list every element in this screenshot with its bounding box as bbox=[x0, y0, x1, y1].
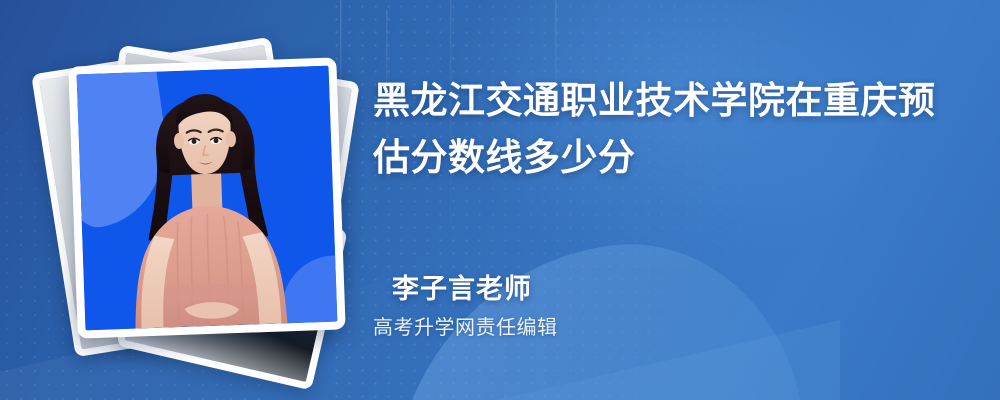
photo-card-front bbox=[68, 57, 345, 338]
portrait-illustration bbox=[77, 66, 338, 331]
banner-title: 黑龙江交通职业技术学院在重庆预 估分数线多少分 bbox=[373, 72, 963, 186]
banner-text-column: 黑龙江交通职业技术学院在重庆预 估分数线多少分 李子言老师 高考升学网责任编辑 bbox=[373, 0, 973, 400]
banner-title-line-1: 黑龙江交通职业技术学院在重庆预 bbox=[373, 72, 963, 129]
banner-title-line-2: 估分数线多少分 bbox=[373, 129, 963, 186]
author-name: 李子言老师 bbox=[392, 272, 793, 308]
author-block: 李子言老师 高考升学网责任编辑 bbox=[373, 272, 793, 342]
photo-card-stack bbox=[40, 28, 340, 368]
article-cover-banner: 黑龙江交通职业技术学院在重庆预 估分数线多少分 李子言老师 高考升学网责任编辑 bbox=[0, 0, 1000, 400]
author-role: 高考升学网责任编辑 bbox=[373, 312, 793, 342]
author-portrait-photo bbox=[77, 66, 338, 331]
